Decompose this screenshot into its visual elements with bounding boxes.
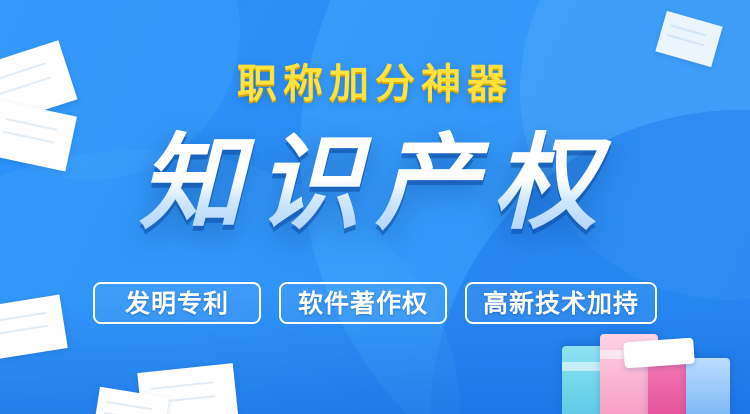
headline-group: 职称加分神器 知识产权	[0, 64, 750, 240]
promo-banner: 职称加分神器 知识产权 发明专利 软件著作权 高新技术加持	[0, 0, 750, 414]
banner-subtitle: 职称加分神器	[0, 64, 750, 104]
certificate-scroll-icon	[623, 338, 695, 369]
feature-tag-hightech[interactable]: 高新技术加持	[465, 282, 657, 324]
feature-tag-patent[interactable]: 发明专利	[93, 282, 261, 324]
banner-title: 知识产权	[0, 128, 750, 240]
book-blue	[686, 358, 730, 414]
feature-tag-row: 发明专利 软件著作权 高新技术加持	[0, 282, 750, 324]
book-stack-icon	[562, 328, 732, 414]
feature-tag-software-copyright[interactable]: 软件著作权	[279, 282, 447, 324]
